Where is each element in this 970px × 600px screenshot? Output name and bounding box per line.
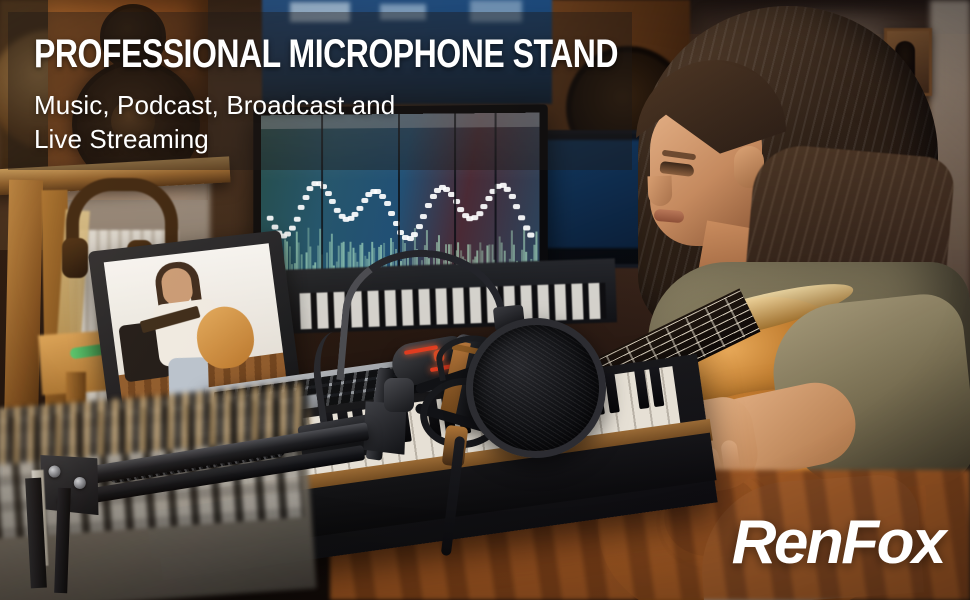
subtitle: Music, Podcast, Broadcast and Live Strea…	[34, 88, 395, 157]
woman-nose	[647, 176, 672, 207]
woman-lips	[654, 209, 685, 224]
page-title: PROFESSIONAL MICROPHONE STAND	[34, 34, 618, 74]
piano-black-key	[649, 366, 664, 407]
product-banner: PROFESSIONAL MICROPHONE STAND Music, Pod…	[0, 0, 970, 600]
hinge-screw	[48, 465, 61, 478]
boom-arm-knuckle	[384, 378, 414, 412]
piano-black-key	[604, 372, 619, 413]
subtitle-line-1: Music, Podcast, Broadcast and	[34, 88, 395, 122]
piano-black-key	[634, 368, 649, 409]
brand-logo: RenFox	[732, 512, 944, 574]
subtitle-line-2: Live Streaming	[34, 122, 395, 156]
text-overlay-panel: PROFESSIONAL MICROPHONE STAND Music, Pod…	[8, 12, 632, 170]
headphone-earcup	[62, 238, 88, 278]
hinge-screw	[73, 476, 86, 489]
